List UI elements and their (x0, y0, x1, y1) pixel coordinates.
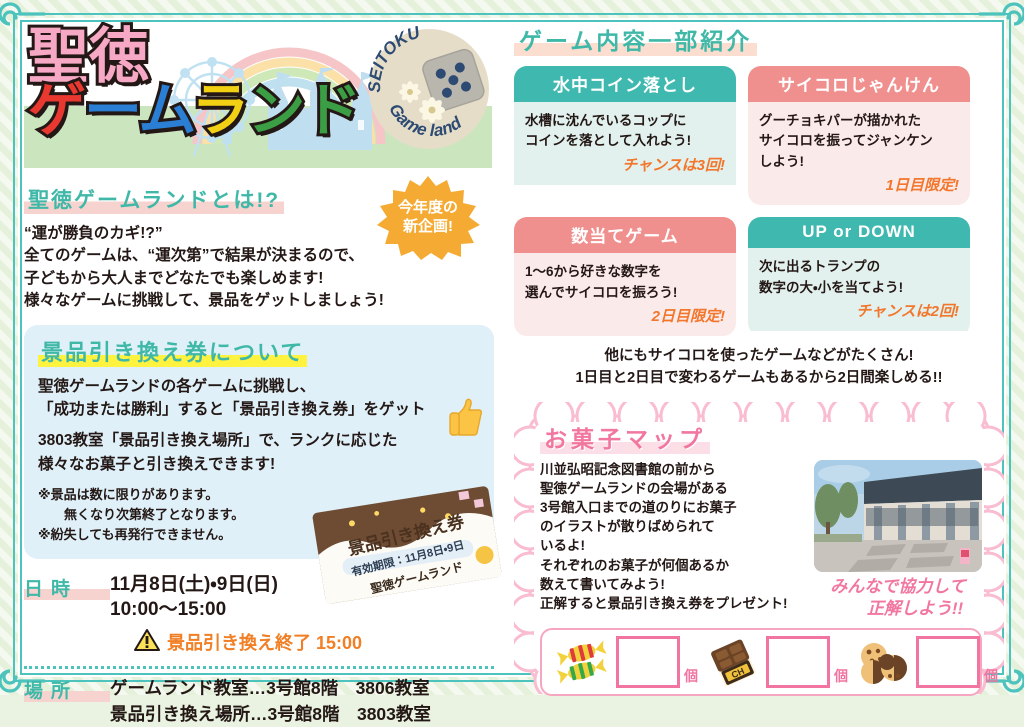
title-char: ム (138, 78, 191, 143)
game-card-tagline: チャンスは2回! (759, 301, 959, 324)
ticket-line-4: 様々なお菓子と引き換えできます! (38, 456, 275, 473)
candy-count-row: 個 CH 個 個 (540, 628, 982, 696)
title-char: ン (247, 78, 303, 143)
game-card-desc-line: グーチョキパーが描かれた (759, 111, 959, 131)
candy-map-line: 聖徳ゲームランドの会場がある (540, 479, 804, 498)
candy-counter-1: 個 (554, 636, 698, 688)
prize-ticket-paragraph: 聖徳ゲームランドの各ゲームに挑戦し、 「成功または勝利」すると「景品引き換え券」… (38, 375, 480, 422)
game-card-desc-line: コインを落として入れよう! (525, 131, 725, 151)
game-card-list: 水中コイン落とし水槽に沈んでいるコップにコインを落として入れよう!チャンスは3回… (514, 66, 1004, 336)
game-card-desc-line: 選んでサイコロを振ろう! (525, 283, 725, 303)
game-card-desc-line: 次に出るトランプの (759, 257, 959, 277)
ticket-line-1: 聖徳ゲームランドの各ゲームに挑戦し、 (38, 378, 315, 395)
new-plan-badge-label: 今年度の 新企画! (372, 176, 484, 260)
title-line-2: ゲームランド (28, 83, 359, 138)
prize-ticket-panel: 景品引き換え券について 聖徳ゲームランドの各ゲームに挑戦し、 「成功または勝利」… (24, 325, 494, 559)
candy-map-body: 川並弘昭記念図書館の前から聖徳ゲームランドの会場がある3号館入口までの道のりにお… (540, 460, 982, 620)
game-card-body: グーチョキパーが描かれたサイコロを振ってジャンケンしよう!1日目限定! (748, 102, 970, 205)
game-card-1: 水中コイン落とし水槽に沈んでいるコップにコインを落として入れよう!チャンスは3回… (514, 66, 736, 205)
candy-count-unit: 個 (984, 666, 998, 688)
game-card-desc-line: 水槽に沈んでいるコップに (525, 111, 725, 131)
candy-count-input[interactable] (616, 636, 680, 688)
place-line-1: ゲームランド教室…3号館8階 3806教室 (110, 675, 431, 701)
poster-hero: 聖徳 ゲームランド SEITOKU Game land (24, 22, 492, 180)
place-row: 場所 ゲームランド教室…3号館8階 3806教室 景品引き換え場所…3号館8階 … (24, 675, 494, 727)
game-card-title: サイコロじゃんけん (748, 66, 970, 102)
campus-building-photo (814, 460, 982, 572)
intro-line-3: 子どもから大人までどなたでも楽しめます! (24, 268, 494, 290)
games-more-note: 他にもサイコロを使ったゲームなどがたくさん! 1日目と2日目で変わるゲームもある… (514, 346, 1004, 390)
game-card-title: UP or DOWN (748, 217, 970, 248)
poster-background: 聖徳 ゲームランド SEITOKU Game land (0, 0, 1024, 695)
candy-count-unit: 個 (684, 666, 698, 688)
title-char: ゲ (28, 78, 84, 143)
place-values: ゲームランド教室…3号館8階 3806教室 景品引き換え場所…3号館8階 380… (110, 675, 431, 727)
title-char: ド (303, 78, 359, 143)
game-card-desc-line: しよう! (759, 152, 959, 172)
games-heading-wrap: ゲーム内容一部紹介 (514, 22, 1004, 56)
candy-map-photo-wrap: みんなで協力して 正解しよう!! (814, 460, 982, 620)
seitoku-game-land-logo: SEITOKU Game land (366, 26, 492, 152)
ticket-line-2: 「成功または勝利」すると「景品引き換え券」をゲット (38, 401, 426, 418)
candy-map-line: いるよ! (540, 536, 804, 555)
more-line-2: 1日目と2日目で変わるゲームもあるから2日間楽しめる!! (514, 368, 1004, 390)
more-line-1: 他にもサイコロを使ったゲームなどがたくさん! (514, 346, 1004, 368)
game-card-tagline: 2日目限定! (525, 306, 725, 329)
title-char: ラ (191, 78, 247, 143)
place-line-2: 景品引き換え場所…3号館8階 3803教室 (110, 701, 431, 727)
warning-triangle-icon (134, 628, 160, 657)
title-char: ー (84, 78, 138, 143)
candy-map-line: それぞれのお菓子が何個あるか (540, 556, 804, 575)
badge-line-1: 今年度の (398, 199, 458, 218)
candy-count-input[interactable] (916, 636, 980, 688)
candy-map-description: 川並弘昭記念図書館の前から聖徳ゲームランドの会場がある3号館入口までの道のりにお… (540, 460, 804, 620)
candy-map-line: のイラストが散りばめられて (540, 517, 804, 536)
intro-heading: 聖徳ゲームランドとは!? (24, 184, 284, 214)
game-card-desc-line: 1〜6から好きな数字を (525, 262, 725, 282)
prize-ticket-paragraph-2: 3803教室「景品引き換え場所」で、ランクに応じた 様々なお菓子と引き換えできま… (38, 429, 480, 476)
cheer-line-1: みんなで協力して (830, 577, 966, 596)
candy-count-unit: 個 (834, 666, 848, 688)
game-card-title: 水中コイン落とし (514, 66, 736, 102)
section-divider (24, 666, 494, 669)
candy-map-line: 3号館入口までの道のりにお菓子 (540, 498, 804, 517)
candy-map-line: 川並弘昭記念図書館の前から (540, 460, 804, 479)
cheer-line-2: 正解しよう!! (848, 598, 982, 620)
chocolate-bar-icon: CH (704, 638, 762, 686)
candy-map-heading: お菓子マップ (540, 420, 710, 454)
game-card-3: 数当てゲーム1〜6から好きな数字を選んでサイコロを振ろう!2日目限定! (514, 217, 736, 336)
prize-ticket-heading: 景品引き換え券について (38, 335, 307, 367)
schedule-label: 日時 (24, 573, 110, 600)
game-card-4: UP or DOWN次に出るトランプの数字の大・小を当てよう!チャンスは2回! (748, 217, 970, 336)
intro-line-4: 様々なゲームに挑戦して、景品をゲットしましょう! (24, 290, 494, 312)
candy-map-line: 数えて書いてみよう! (540, 575, 804, 594)
new-plan-badge: 今年度の 新企画! (372, 176, 484, 260)
cookies-icon (854, 638, 912, 686)
game-card-2: サイコロじゃんけんグーチョキパーが描かれたサイコロを振ってジャンケンしよう!1日… (748, 66, 970, 205)
schedule-warning: 景品引き換え終了 15:00 (134, 628, 362, 657)
game-card-body: 次に出るトランプの数字の大・小を当てよう!チャンスは2回! (748, 248, 970, 331)
candy-counter-3: 個 (854, 636, 998, 688)
candy-icon (554, 638, 612, 686)
candy-counter-2: CH 個 (704, 636, 848, 688)
game-card-tagline: チャンスは3回! (525, 155, 725, 178)
game-card-body: 1〜6から好きな数字を選んでサイコロを振ろう!2日目限定! (514, 253, 736, 336)
ticket-line-3: 3803教室「景品引き換え場所」で、ランクに応じた (38, 432, 397, 449)
warning-text: 景品引き換え終了 15:00 (167, 629, 362, 655)
game-card-title: 数当てゲーム (514, 217, 736, 253)
candy-map-panel: お菓子マップ 川並弘昭記念図書館の前から聖徳ゲームランドの会場がある3号館入口ま… (514, 402, 1004, 710)
poster-title: 聖徳 ゲームランド (28, 28, 359, 138)
candy-count-input[interactable] (766, 636, 830, 688)
game-card-body: 水槽に沈んでいるコップにコインを落として入れよう!チャンスは3回! (514, 102, 736, 185)
badge-line-2: 新企画! (403, 218, 453, 237)
right-column: ゲーム内容一部紹介 水中コイン落とし水槽に沈んでいるコップにコインを落として入れ… (514, 22, 1004, 710)
game-card-desc-line: 数字の大・小を当てよう! (759, 278, 959, 298)
candy-map-cheer: みんなで協力して 正解しよう!! (814, 576, 982, 620)
games-heading: ゲーム内容一部紹介 (514, 22, 757, 56)
left-column: 聖徳 ゲームランド SEITOKU Game land (24, 22, 494, 727)
candy-map-line: 正解すると景品引き換え券をプレゼント! (540, 594, 804, 613)
candy-map-content: お菓子マップ 川並弘昭記念図書館の前から聖徳ゲームランドの会場がある3号館入口ま… (540, 420, 982, 696)
title-line-1: 聖徳 (28, 28, 359, 85)
place-label: 場所 (24, 675, 110, 702)
game-card-tagline: 1日目限定! (759, 175, 959, 198)
game-card-desc-line: サイコロを振ってジャンケン (759, 131, 959, 151)
thumbs-up-icon (448, 397, 482, 442)
